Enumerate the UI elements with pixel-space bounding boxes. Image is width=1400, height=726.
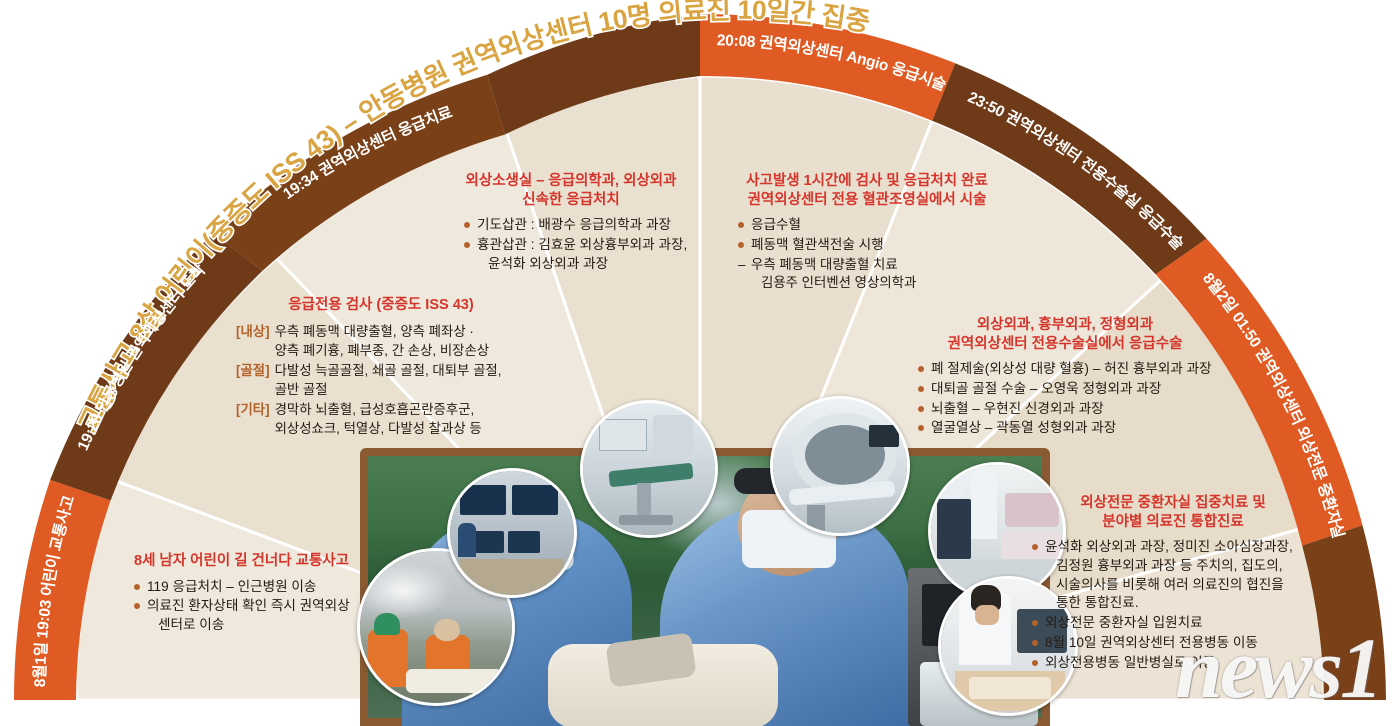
list-item: 대퇴골 골절 수술 – 오영욱 정형외과 과장 [918,380,1226,399]
angio-heading: 사고발생 1시간에 검사 및 응급처치 완료 권역외상센터 전용 혈관조영실에서… [722,172,1012,209]
icu-bullet-1-l3: 시술의사를 비롯해 여러 의료진의 협진을 [1045,576,1314,595]
exam-line: 다발성 늑골골절, 쇄골 골절, 대퇴부 골절, [275,363,502,378]
exam-line: 골반 골절 [275,380,526,399]
resuscitation-bullet-1: 기도삽관 : 배광수 응급의학과 과장 [477,217,671,232]
list-item: 폐동맥 혈관색전술 시행 [738,236,1012,255]
icu-bullet-2: 외상전문 중환자실 입원치료 [1045,615,1203,630]
angio-dash-cont: 김용주 인터벤션 영상의학과 [751,274,1012,293]
panel-accident: 8세 남자 어린이 길 건너다 교통사고 119 응급처치 – 인근병원 이송 … [134,552,392,636]
resuscitation-bullet-list: 기도삽관 : 배광수 응급의학과 과장 흉관삽관 : 김효윤 외상흉부외과 과장… [464,216,702,273]
surgery-bullet-3: 뇌출혈 – 우현진 신경외과 과장 [931,401,1104,416]
exam-row: [내상] 우측 폐동맥 대량출혈, 양측 폐좌상 · 양측 폐기흉, 폐부종, … [236,322,526,360]
list-item: 8월 10일 권역외상센터 전용병동 이동 [1032,634,1314,653]
exam-val-2: 다발성 늑골골절, 쇄골 골절, 대퇴부 골절, 골반 골절 [275,361,526,399]
resuscitation-bullet-2-cont: 윤석화 외상외과 과장 [477,255,702,274]
accident-bullet-list: 119 응급처치 – 인근병원 이송 의료진 환자상태 확인 즉시 권역외상 센… [134,578,392,635]
accident-bullet-1: 119 응급처치 – 인근병원 이송 [147,579,316,594]
exam-val-3: 경막하 뇌출혈, 급성호흡곤란증후군, 외상성쇼크, 턱열상, 다발성 찰과상 … [275,400,526,438]
surgery-bullet-list: 폐 절제술(외상성 대량 혈흉) – 허진 흉부외과 과장 대퇴골 골절 수술 … [918,360,1226,438]
surgery-bullet-1: 폐 절제술(외상성 대량 혈흉) – 허진 흉부외과 과장 [931,361,1212,376]
exam-val-1: 우측 폐동맥 대량출혈, 양측 폐좌상 · 양측 폐기흉, 폐부종, 간 손상,… [275,322,526,360]
icu-bullet-3: 8월 10일 권역외상센터 전용병동 이동 [1045,635,1258,650]
panel-exam: 응급전용 검사 (중증도 ISS 43) [내상] 우측 폐동맥 대량출혈, 양… [236,296,526,439]
resuscitation-heading: 외상소생실 – 응급의학과, 외상외과 신속한 응급처치 [440,172,702,209]
surgery-heading: 외상외과, 흉부외과, 정형외과 권역외상센터 전용수술실에서 응급수술 [904,316,1226,353]
icu-bullet-4: 외상전용병동 일반병실로 이동 [1045,655,1215,670]
list-item: 응급수혈 [738,216,1012,235]
exam-tag-2: [골절] [236,361,270,399]
icu-heading: 외상전문 중환자실 집중치료 및 분야별 의료진 통합진료 [1032,494,1314,531]
list-item: 뇌출혈 – 우현진 신경외과 과장 [918,400,1226,419]
angio-heading-line2: 권역외상센터 전용 혈관조영실에서 시술 [748,192,987,208]
icu-bullet-1-l2: 김정원 흉부외과 과장 등 주치의, 집도의, [1045,557,1314,576]
photo-reading-room [447,468,577,598]
panel-icu: 외상전문 중환자실 집중치료 및 분야별 의료진 통합진료 윤석화 외상외과 과… [1032,494,1314,673]
list-item: 흉관삽관 : 김효윤 외상흉부외과 과장, 윤석화 외상외과 과장 [464,236,702,274]
exam-line: 우측 폐동맥 대량출혈, 양측 폐좌상 · [275,324,474,339]
surgery-heading-line1: 외상외과, 흉부외과, 정형외과 [977,317,1153,333]
list-item: 외상전용병동 일반병실로 이동 [1032,654,1314,673]
exam-line: 양측 폐기흉, 폐부종, 간 손상, 비장손상 [275,341,526,360]
icu-bullet-1: 윤석화 외상외과 과장, 정미진 소아심장과장, [1045,539,1293,554]
list-item: 열굴열상 – 곽동열 성형외과 과장 [918,419,1226,438]
surgery-bullet-2: 대퇴골 골절 수술 – 오영욱 정형외과 과장 [931,381,1161,396]
exam-line: 외상성쇼크, 턱열상, 다발성 찰과상 등 [275,419,526,438]
icu-heading-line2: 분야별 의료진 통합진료 [1102,514,1243,530]
icu-bullet-1-l4: 통한 통합진료. [1045,594,1314,613]
angio-dash-text: 우측 폐동맥 대량출혈 치료 [751,257,898,272]
exam-rows: [내상] 우측 폐동맥 대량출혈, 양측 폐좌상 · 양측 폐기흉, 폐부종, … [236,322,526,438]
panel-surgery: 외상외과, 흉부외과, 정형외과 권역외상센터 전용수술실에서 응급수술 폐 절… [904,316,1226,439]
photo-operating-room [580,400,718,538]
list-item: 폐 절제술(외상성 대량 혈흉) – 허진 흉부외과 과장 [918,360,1226,379]
angio-dash-item: 우측 폐동맥 대량출혈 치료 김용주 인터벤션 영상의학과 [738,256,1012,293]
panel-resuscitation: 외상소생실 – 응급의학과, 외상외과 신속한 응급처치 기도삽관 : 배광수 … [440,172,702,274]
icu-heading-line1: 외상전문 중환자실 집중치료 및 [1080,495,1266,511]
icu-bullet-list: 윤석화 외상외과 과장, 정미진 소아심장과장, 김정원 흉부외과 과장 등 주… [1032,538,1314,672]
list-item: 외상전문 중환자실 입원치료 [1032,614,1314,633]
list-item: 윤석화 외상외과 과장, 정미진 소아심장과장, 김정원 흉부외과 과장 등 주… [1032,538,1314,613]
exam-line: 경막하 뇌출혈, 급성호흡곤란증후군, [275,402,475,417]
resuscitation-bullet-2: 흉관삽관 : 김효윤 외상흉부외과 과장, [477,237,687,252]
angio-heading-line1: 사고발생 1시간에 검사 및 응급처치 완료 [746,173,988,189]
resuscitation-heading-line2: 신속한 응급처치 [522,192,619,208]
infographic-canvas: 교통사고 8살 어린이(중증도 ISS 43) – 안동병원 권역외상센터 10… [0,0,1400,726]
exam-tag-1: [내상] [236,322,270,360]
surgery-heading-line2: 권역외상센터 전용수술실에서 응급수술 [948,336,1183,352]
list-item: 기도삽관 : 배광수 응급의학과 과장 [464,216,702,235]
exam-tag-3: [기타] [236,400,270,438]
resuscitation-heading-line1: 외상소생실 – 응급의학과, 외상외과 [466,173,677,189]
surgery-bullet-4: 열굴열상 – 곽동열 성형외과 과장 [931,420,1116,435]
exam-row: [기타] 경막하 뇌출혈, 급성호흡곤란증후군, 외상성쇼크, 턱열상, 다발성… [236,400,526,438]
accident-bullet-2-cont: 센터로 이송 [147,616,392,635]
exam-heading: 응급전용 검사 (중증도 ISS 43) [236,296,526,315]
list-item: 119 응급처치 – 인근병원 이송 [134,578,392,597]
angio-bullet-list: 응급수혈 폐동맥 혈관색전술 시행 [738,216,1012,255]
photo-angio-room [770,396,910,536]
accident-heading: 8세 남자 어린이 길 건너다 교통사고 [134,552,392,571]
exam-row: [골절] 다발성 늑골골절, 쇄골 골절, 대퇴부 골절, 골반 골절 [236,361,526,399]
angio-bullet-1: 응급수혈 [751,217,801,232]
angio-bullet-2: 폐동맥 혈관색전술 시행 [751,237,884,252]
list-item: 의료진 환자상태 확인 즉시 권역외상 센터로 이송 [134,597,392,635]
accident-bullet-2: 의료진 환자상태 확인 즉시 권역외상 [147,598,350,613]
panel-angio: 사고발생 1시간에 검사 및 응급처치 완료 권역외상센터 전용 혈관조영실에서… [722,172,1012,293]
